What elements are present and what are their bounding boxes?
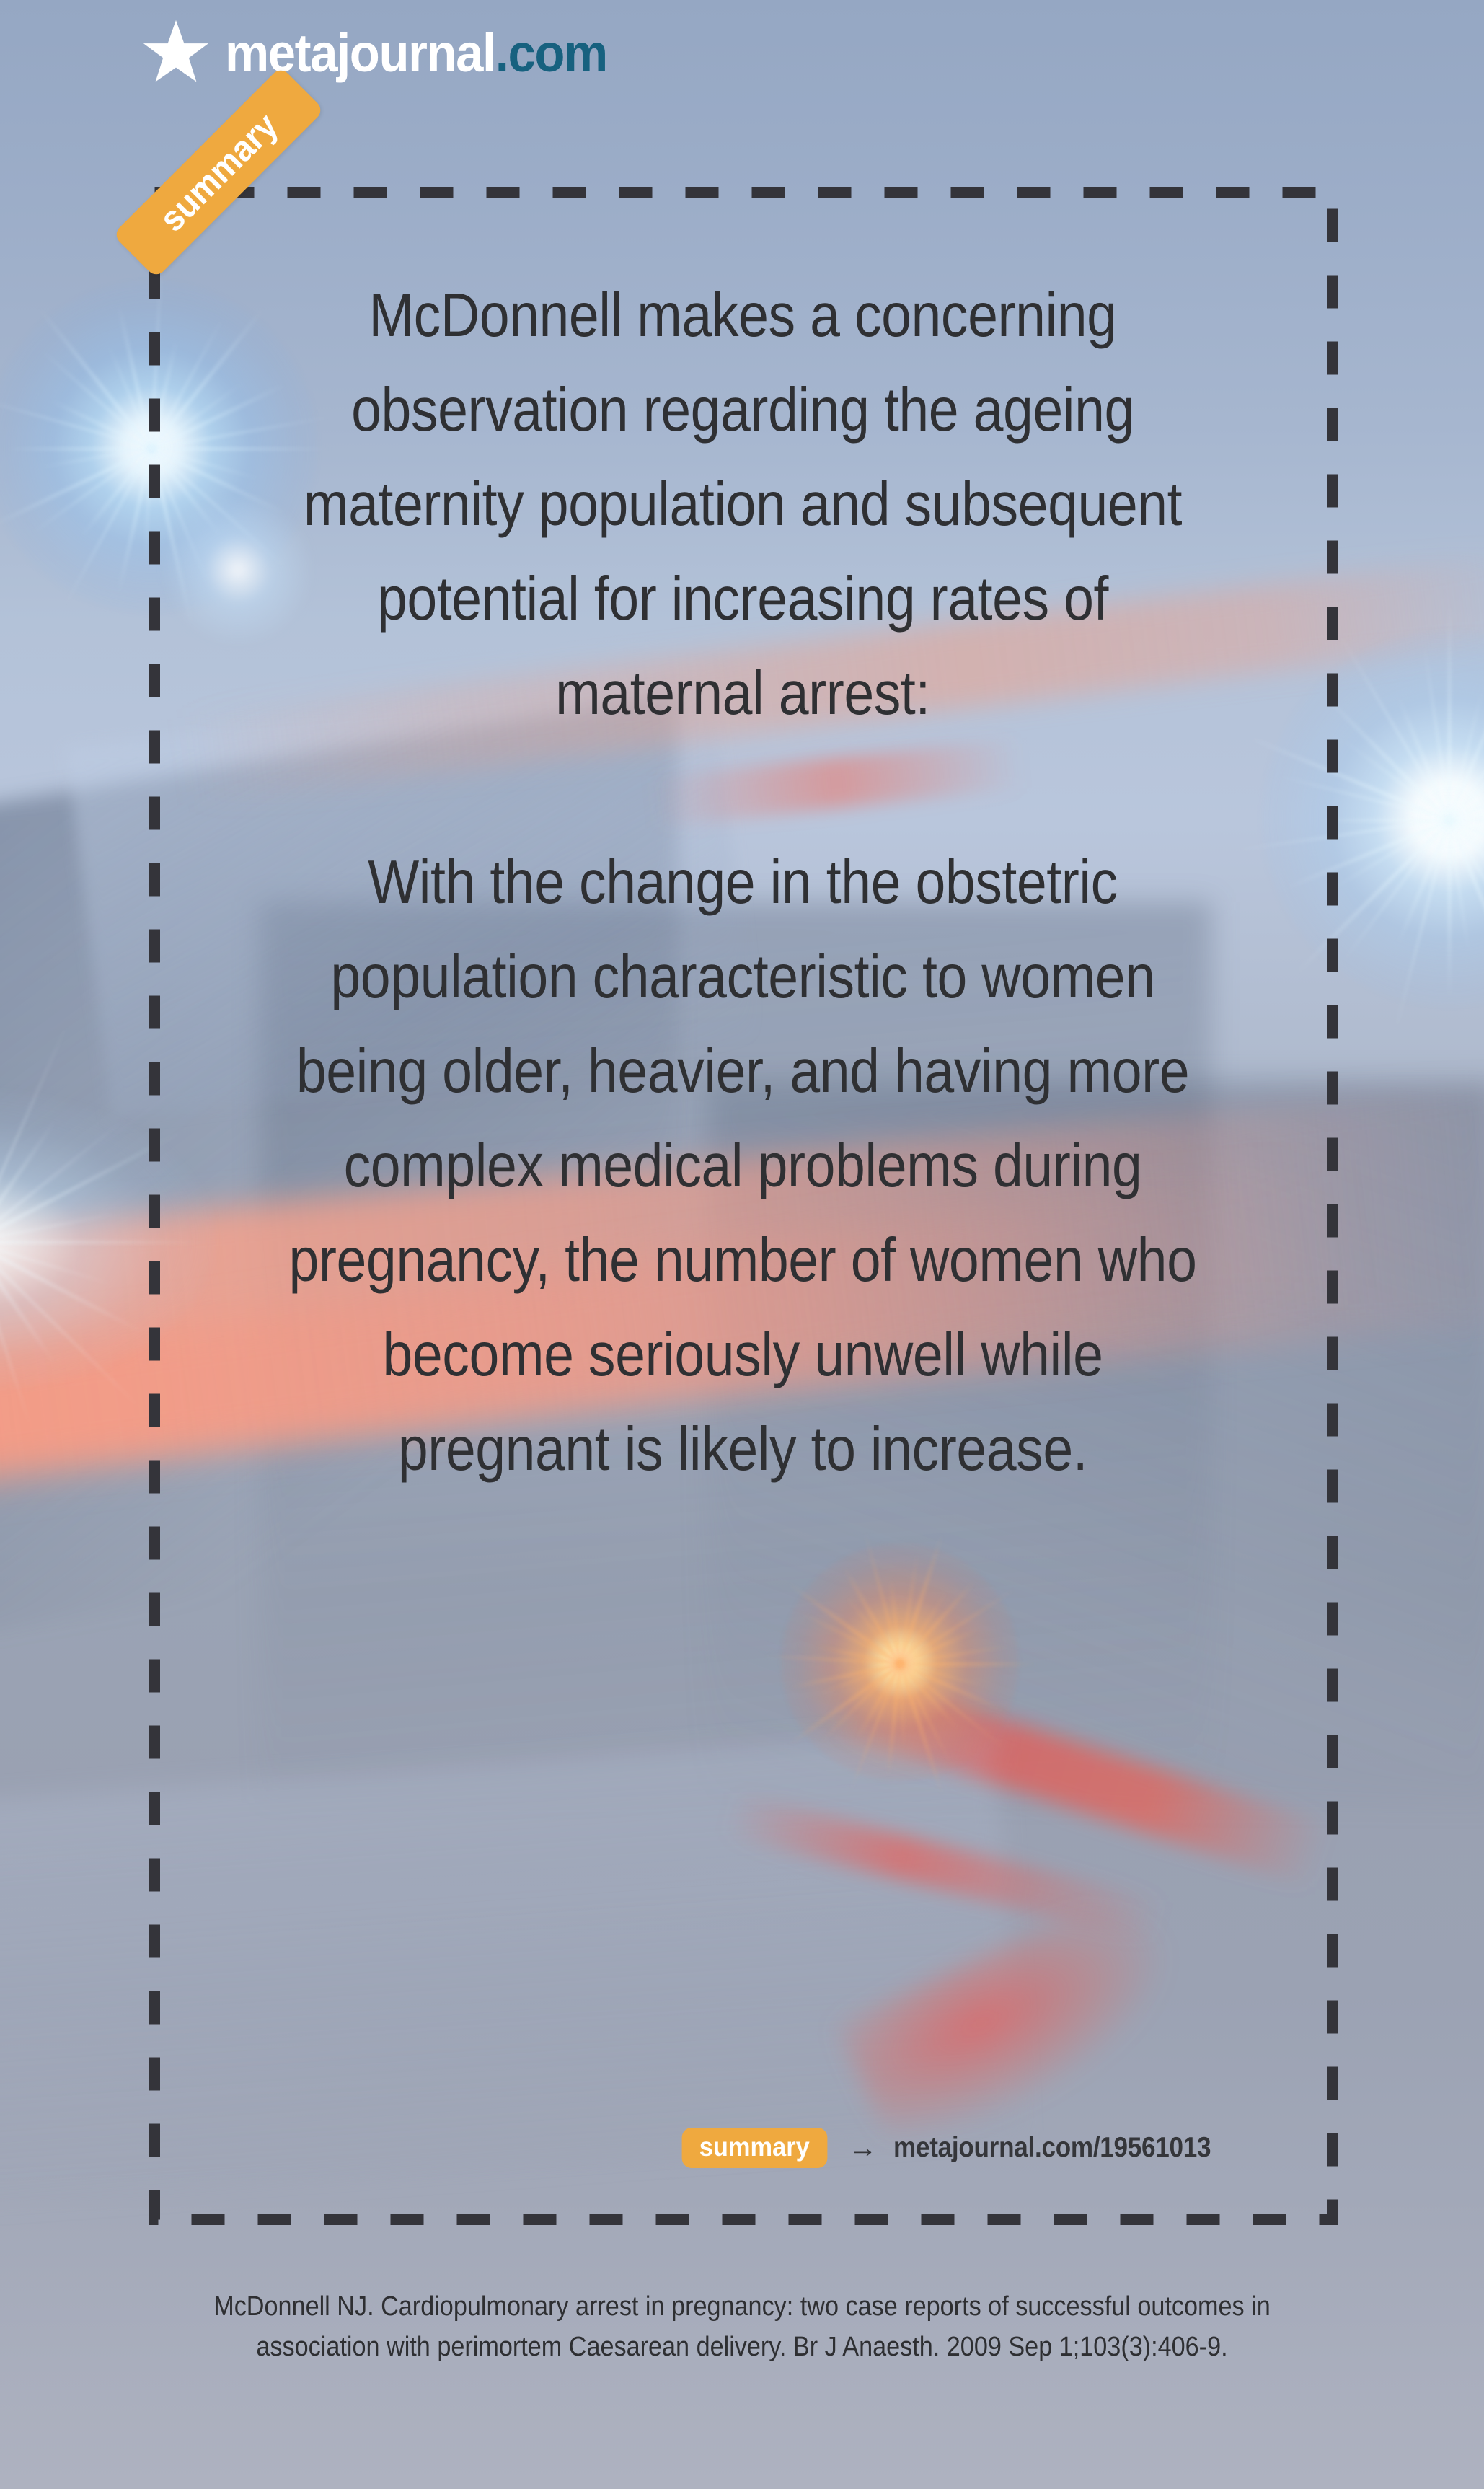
quote-paragraph-spacer xyxy=(277,741,1209,835)
site-logo[interactable]: metajournal.com xyxy=(141,19,636,88)
summary-card: metajournal.com summary McDonnell makes … xyxy=(0,0,1484,2489)
summary-pill-label: summary xyxy=(699,2132,810,2162)
quote-body: McDonnell makes a concerning observation… xyxy=(277,268,1209,1497)
source-url-text[interactable]: metajournal.com/19561013 xyxy=(893,2132,1211,2164)
blue-light-flare-right xyxy=(1262,631,1484,1006)
source-link-row[interactable]: summary → metajournal.com/19561013 xyxy=(676,2128,1246,2168)
quote-paragraph-2: With the change in the obstetric populat… xyxy=(277,835,1209,1497)
logo-word-primary: metajournal xyxy=(225,23,495,83)
logo-word-suffix: .com xyxy=(495,23,607,83)
star-icon xyxy=(141,19,211,88)
arrow-right-icon: → xyxy=(849,2132,878,2164)
citation-text: McDonnell NJ. Cardiopulmonary arrest in … xyxy=(198,2286,1286,2367)
summary-pill-badge: summary xyxy=(682,2128,827,2168)
blue-light-flare-left xyxy=(0,1089,216,1392)
quote-paragraph-1: McDonnell makes a concerning observation… xyxy=(277,268,1209,741)
orange-light-flare xyxy=(781,1543,1019,1781)
